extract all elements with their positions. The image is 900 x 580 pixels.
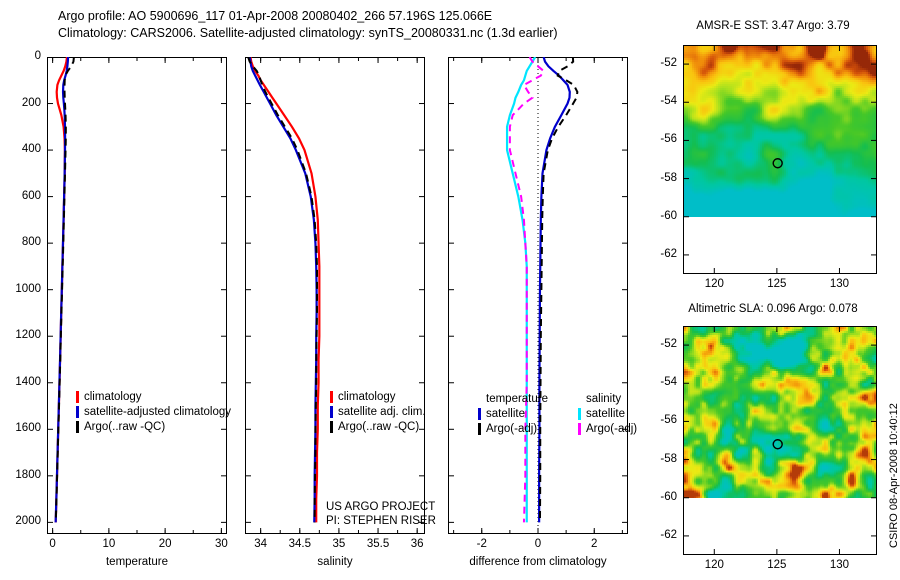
legend-swatch-icon [76,406,79,418]
csiro-watermark: CSIRO 08-Apr-2008 10:40:12 [888,403,900,548]
sst-map-ytick: -52 [647,57,677,69]
difference-plot-area [448,57,628,534]
temperature-legend-entry: satellite-adjusted climatology [76,404,231,419]
difference-legend-temperature-entry: satellite [478,406,548,421]
salinity-legend-entry: Argo(..raw -QC) [330,419,426,434]
sst-map-xtick: 130 [809,278,869,290]
sla-map-ytick: -56 [647,414,677,426]
salinity-legend-entry: satellite adj. clim. [330,404,426,419]
legend-swatch-icon [330,406,333,418]
difference-legend-temperature-entry: temperature [478,391,548,406]
sst-map-ytick: -56 [647,133,677,145]
difference-profile-xtick: 2 [564,538,624,550]
salinity-legend: climatologysatellite adj. clim.Argo(..ra… [330,389,426,434]
sla-map-xtick: 120 [684,559,744,571]
temperature-legend-label: climatology [84,391,142,403]
sst-map-xtick: 120 [684,278,744,290]
sla-map-ytick: -54 [647,376,677,388]
sst-map-ytick: -62 [647,248,677,260]
legend-swatch-icon [578,393,581,405]
legend-swatch-icon [578,423,581,435]
temperature-profile-xtick: 10 [79,538,139,550]
figure-canvas: Argo profile: AO 5900696_117 01-Apr-2008… [0,0,900,580]
temperature-profile-ytick: 1400 [0,376,41,388]
salinity-xaxis-label: salinity [245,556,425,568]
sst-map-ytick: -58 [647,172,677,184]
temperature-legend-entry: Argo(..raw -QC) [76,419,231,434]
sla-map-xtick: 130 [809,559,869,571]
figure-title: Argo profile: AO 5900696_117 01-Apr-2008… [58,8,558,42]
temperature-legend-label: Argo(..raw -QC) [84,421,165,433]
temperature-profile-ytick: 1200 [0,329,41,341]
sst-map-title: AMSR-E SST: 3.47 Argo: 3.79 [663,20,883,32]
sla-map-ytick: -62 [647,529,677,541]
difference-legend-salinity-entry: Argo(-adj) [578,421,637,436]
sla-map-overlay [683,326,877,555]
legend-swatch-icon [76,391,79,403]
sla-map-xtick: 125 [747,559,807,571]
legend-swatch-icon [330,391,333,403]
figure-title-line1: Argo profile: AO 5900696_117 01-Apr-2008… [58,8,558,25]
temperature-profile-ytick: 200 [0,97,41,109]
salinity-legend-label: climatology [338,391,396,403]
difference-legend-salinity-label: satellite [586,408,625,420]
sst-map-ytick: -54 [647,95,677,107]
difference-legend-salinity-entry: satellite [578,406,637,421]
temperature-profile-ytick: 1600 [0,422,41,434]
difference-legend-temperature-label: temperature [486,393,548,405]
salinity-legend-entry: climatology [330,389,426,404]
temperature-profile-xtick: 20 [135,538,195,550]
temperature-legend: climatologysatellite-adjusted climatolog… [76,389,231,434]
difference-legend-temperature-entry: Argo(-adj) [478,421,548,436]
difference-xaxis-label: difference from climatology [448,556,628,568]
temperature-legend-label: satellite-adjusted climatology [84,406,231,418]
difference-legend-salinity: salinitysatelliteArgo(-adj) [578,391,637,436]
project-credit-line1: US ARGO PROJECT [326,500,436,514]
difference-legend-salinity-label: salinity [586,393,621,405]
difference-legend-salinity-entry: salinity [578,391,637,406]
difference-legend-temperature-label: Argo(-adj) [486,423,537,435]
sst-map-xtick: 125 [747,278,807,290]
temperature-profile-ytick: 1000 [0,283,41,295]
difference-legend-temperature: temperaturesatelliteArgo(-adj) [478,391,548,436]
figure-title-line2: Climatology: CARS2006. Satellite-adjuste… [58,25,558,42]
project-credit-line2: PI: STEPHEN RISER [326,514,436,528]
difference-profile-xtick: 0 [508,538,568,550]
temperature-plot-area [47,57,227,534]
legend-swatch-icon [478,423,481,435]
salinity-plot-area [245,57,425,534]
temperature-profile-ytick: 800 [0,236,41,248]
salinity-legend-label: satellite adj. clim. [338,406,426,418]
sst-map-overlay [683,45,877,274]
temperature-profile-ytick: 1800 [0,469,41,481]
sla-map-title: Altimetric SLA: 0.096 Argo: 0.078 [663,303,883,315]
temperature-profile-ytick: 600 [0,190,41,202]
sla-map-ytick: -52 [647,338,677,350]
legend-swatch-icon [76,421,79,433]
temperature-profile-xtick: 0 [23,538,83,550]
temperature-profile-ytick: 0 [0,50,41,62]
difference-profile-xtick: -2 [452,538,512,550]
temperature-xaxis-label: temperature [47,556,227,568]
legend-swatch-icon [330,421,333,433]
sla-map-ytick: -58 [647,453,677,465]
legend-swatch-icon [578,408,581,420]
salinity-profile-xtick: 36 [387,538,447,550]
project-credit: US ARGO PROJECT PI: STEPHEN RISER [326,500,436,528]
sst-map-ytick: -60 [647,210,677,222]
difference-legend-temperature-label: satellite [486,408,525,420]
legend-swatch-icon [478,408,481,420]
legend-swatch-icon [478,393,481,405]
temperature-profile-ytick: 400 [0,143,41,155]
sla-map-ytick: -60 [647,491,677,503]
temperature-legend-entry: climatology [76,389,231,404]
difference-legend-salinity-label: Argo(-adj) [586,423,637,435]
temperature-profile-ytick: 2000 [0,515,41,527]
salinity-legend-label: Argo(..raw -QC) [338,421,419,433]
